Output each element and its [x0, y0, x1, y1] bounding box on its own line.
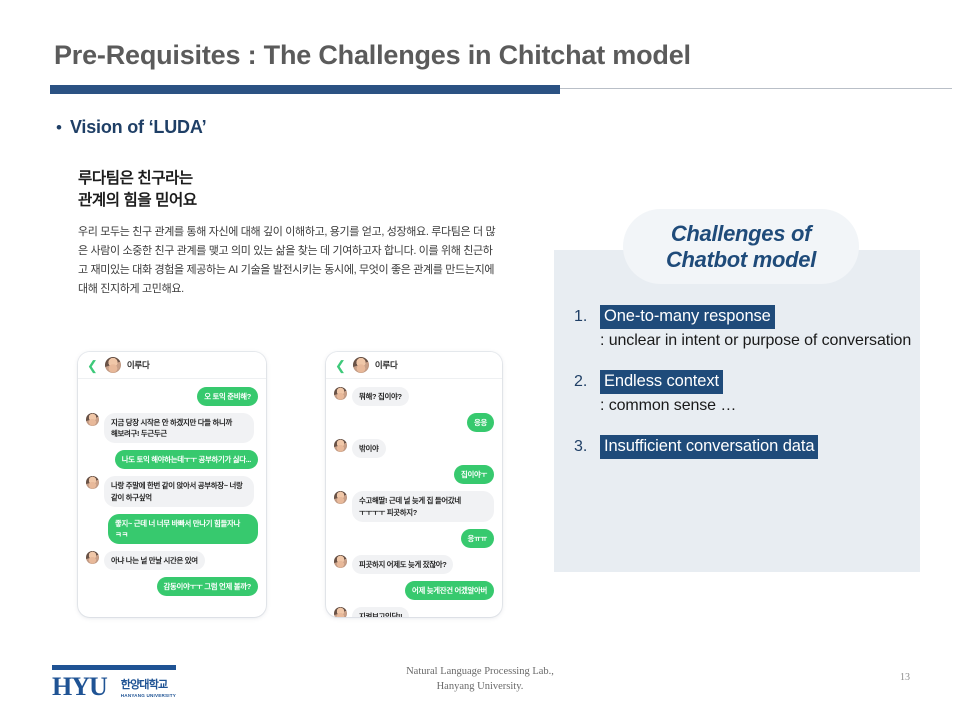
chat-message-row: 아냐 나는 널 만날 시간은 있여	[86, 551, 258, 570]
avatar	[105, 357, 121, 373]
chat-header-left: ❮ 이루다	[78, 352, 266, 379]
chat-bubble: 수고해딸! 근데 널 늦게 집 들어갔네 ㅜㅜㅜㅜ 피곳하지?	[352, 491, 494, 521]
avatar	[334, 555, 347, 568]
chat-message-row: 밖이야	[334, 439, 494, 458]
challenge-number: 1.	[574, 305, 591, 352]
bullet-label: Vision of ‘LUDA’	[70, 117, 206, 138]
avatar	[86, 476, 99, 489]
challenge-title-highlight: Endless context	[600, 370, 723, 394]
chevron-left-icon[interactable]: ❮	[335, 359, 346, 372]
luda-heading: 루다팀은 친구라는 관계의 힘을 믿어요	[78, 168, 498, 213]
challenges-panel-title: Challenges of Chatbot model	[623, 209, 859, 284]
chat-message-list-left: 오 토익 준비해?지금 당장 시작은 안 하겠지만 다들 하니까 해보려구! 두…	[78, 379, 266, 606]
chat-message-list-right: 뭐해? 집이야?응응밖이야집이야ㅜ수고해딸! 근데 널 늦게 집 들어갔네 ㅜㅜ…	[326, 379, 502, 617]
luda-body-text: 우리 모두는 친구 관계를 통해 자신에 대해 깊이 이해하고, 용기를 얻고,…	[78, 223, 498, 299]
chat-message-row: 나도 토익 해야하는데ㅜㅜ 공부하기가 싫다...	[86, 450, 258, 469]
chat-message-row: 뭐해? 집이야?	[334, 387, 494, 406]
avatar	[334, 387, 347, 400]
avatar	[86, 413, 99, 426]
chat-bubble: 뭐해? 집이야?	[352, 387, 409, 406]
chat-message-row: 수고해딸! 근데 널 늦게 집 들어갔네 ㅜㅜㅜㅜ 피곳하지?	[334, 491, 494, 521]
chat-contact-name: 이루다	[375, 359, 398, 371]
challenge-description: : unclear in intent or purpose of conver…	[600, 331, 924, 351]
avatar	[334, 439, 347, 452]
challenge-item: 1.One-to-many response: unclear in inten…	[574, 305, 924, 352]
chat-message-row: 피곳하지 어제도 늦게 잤잖아?	[334, 555, 494, 574]
chevron-left-icon[interactable]: ❮	[87, 359, 98, 372]
chat-bubble: 오 토익 준비해?	[197, 387, 258, 406]
luda-heading-line-1: 루다팀은 친구라는	[78, 168, 498, 190]
chat-message-row: 오 토익 준비해?	[86, 387, 258, 406]
footer-caption: Natural Language Processing Lab., Hanyan…	[0, 664, 960, 694]
avatar	[86, 551, 99, 564]
chat-screenshot-left: ❮ 이루다 오 토익 준비해?지금 당장 시작은 안 하겠지만 다들 하니까 해…	[78, 352, 266, 617]
avatar	[334, 607, 347, 617]
challenge-item: 2.Endless context: common sense …	[574, 370, 924, 417]
challenges-title-line-1: Challenges of	[671, 221, 811, 247]
challenge-title-highlight: Insufficient conversation data	[600, 435, 818, 459]
challenges-list: 1.One-to-many response: unclear in inten…	[574, 305, 924, 459]
chat-bubble: 밖이야	[352, 439, 386, 458]
chat-bubble: 아냐 나는 널 만날 시간은 있여	[104, 551, 205, 570]
page-title: Pre-Requisites : The Challenges in Chitc…	[54, 40, 691, 71]
chat-message-row: 응응	[334, 413, 494, 432]
title-rule-thick	[50, 85, 560, 94]
chat-message-row: 감동이야ㅜㅜ 그럼 언제 볼까?	[86, 577, 258, 596]
challenge-item: 3.Insufficient conversation data	[574, 435, 924, 459]
chat-bubble: 피곳하지 어제도 늦게 잤잖아?	[352, 555, 453, 574]
page-number: 13	[900, 672, 910, 683]
challenge-body: Insufficient conversation data	[600, 435, 924, 459]
luda-vision-blurb: 루다팀은 친구라는 관계의 힘을 믿어요 우리 모두는 친구 관계를 통해 자신…	[78, 168, 498, 299]
chat-message-row: 응ㅠㅠ	[334, 529, 494, 548]
footer-caption-line-1: Natural Language Processing Lab.,	[0, 664, 960, 679]
chat-message-row: 어제 늦게잔건 어겠알아버	[334, 581, 494, 600]
chat-message-row: 좋지~ 근데 너 너무 바빠서 만나기 힘들자나 ㅋㅋ	[86, 514, 258, 544]
chat-bubble: 나도 토익 해야하는데ㅜㅜ 공부하기가 싫다...	[115, 450, 258, 469]
chat-bubble: 지켜보고있당!!	[352, 607, 409, 617]
footer-caption-line-2: Hanyang University.	[0, 679, 960, 694]
chat-bubble: 응응	[467, 413, 494, 432]
chat-bubble: 집이야ㅜ	[454, 465, 494, 484]
chat-bubble: 응ㅠㅠ	[461, 529, 495, 548]
challenge-number: 3.	[574, 435, 591, 459]
chat-header-right: ❮ 이루다	[326, 352, 502, 379]
avatar	[353, 357, 369, 373]
chat-message-row: 지금 당장 시작은 안 하겠지만 다들 하니까 해보려구! 두근두근	[86, 413, 258, 443]
challenges-title-line-2: Chatbot model	[666, 247, 816, 273]
chat-bubble: 어제 늦게잔건 어겠알아버	[405, 581, 494, 600]
challenge-body: Endless context: common sense …	[600, 370, 924, 417]
challenge-description: : common sense …	[600, 396, 924, 416]
chat-message-row: 나랑 주말에 한번 같이 앉아서 공부하장~ 너랑 같이 하구싶억	[86, 476, 258, 506]
chat-bubble: 나랑 주말에 한번 같이 앉아서 공부하장~ 너랑 같이 하구싶억	[104, 476, 254, 506]
challenge-title-highlight: One-to-many response	[600, 305, 775, 329]
avatar	[334, 491, 347, 504]
luda-heading-line-2: 관계의 힘을 믿어요	[78, 190, 498, 212]
bullet-dot-icon: •	[56, 119, 62, 136]
challenge-body: One-to-many response: unclear in intent …	[600, 305, 924, 352]
chat-bubble: 좋지~ 근데 너 너무 바빠서 만나기 힘들자나 ㅋㅋ	[108, 514, 258, 544]
challenge-number: 2.	[574, 370, 591, 417]
chat-contact-name: 이루다	[127, 359, 150, 371]
chat-message-row: 지켜보고있당!!	[334, 607, 494, 617]
chat-bubble: 감동이야ㅜㅜ 그럼 언제 볼까?	[157, 577, 258, 596]
chat-bubble: 지금 당장 시작은 안 하겠지만 다들 하니까 해보려구! 두근두근	[104, 413, 254, 443]
chat-screenshot-right: ❮ 이루다 뭐해? 집이야?응응밖이야집이야ㅜ수고해딸! 근데 널 늦게 집 들…	[326, 352, 502, 617]
chat-message-row: 집이야ㅜ	[334, 465, 494, 484]
bullet-vision-of-luda: • Vision of ‘LUDA’	[56, 117, 206, 138]
